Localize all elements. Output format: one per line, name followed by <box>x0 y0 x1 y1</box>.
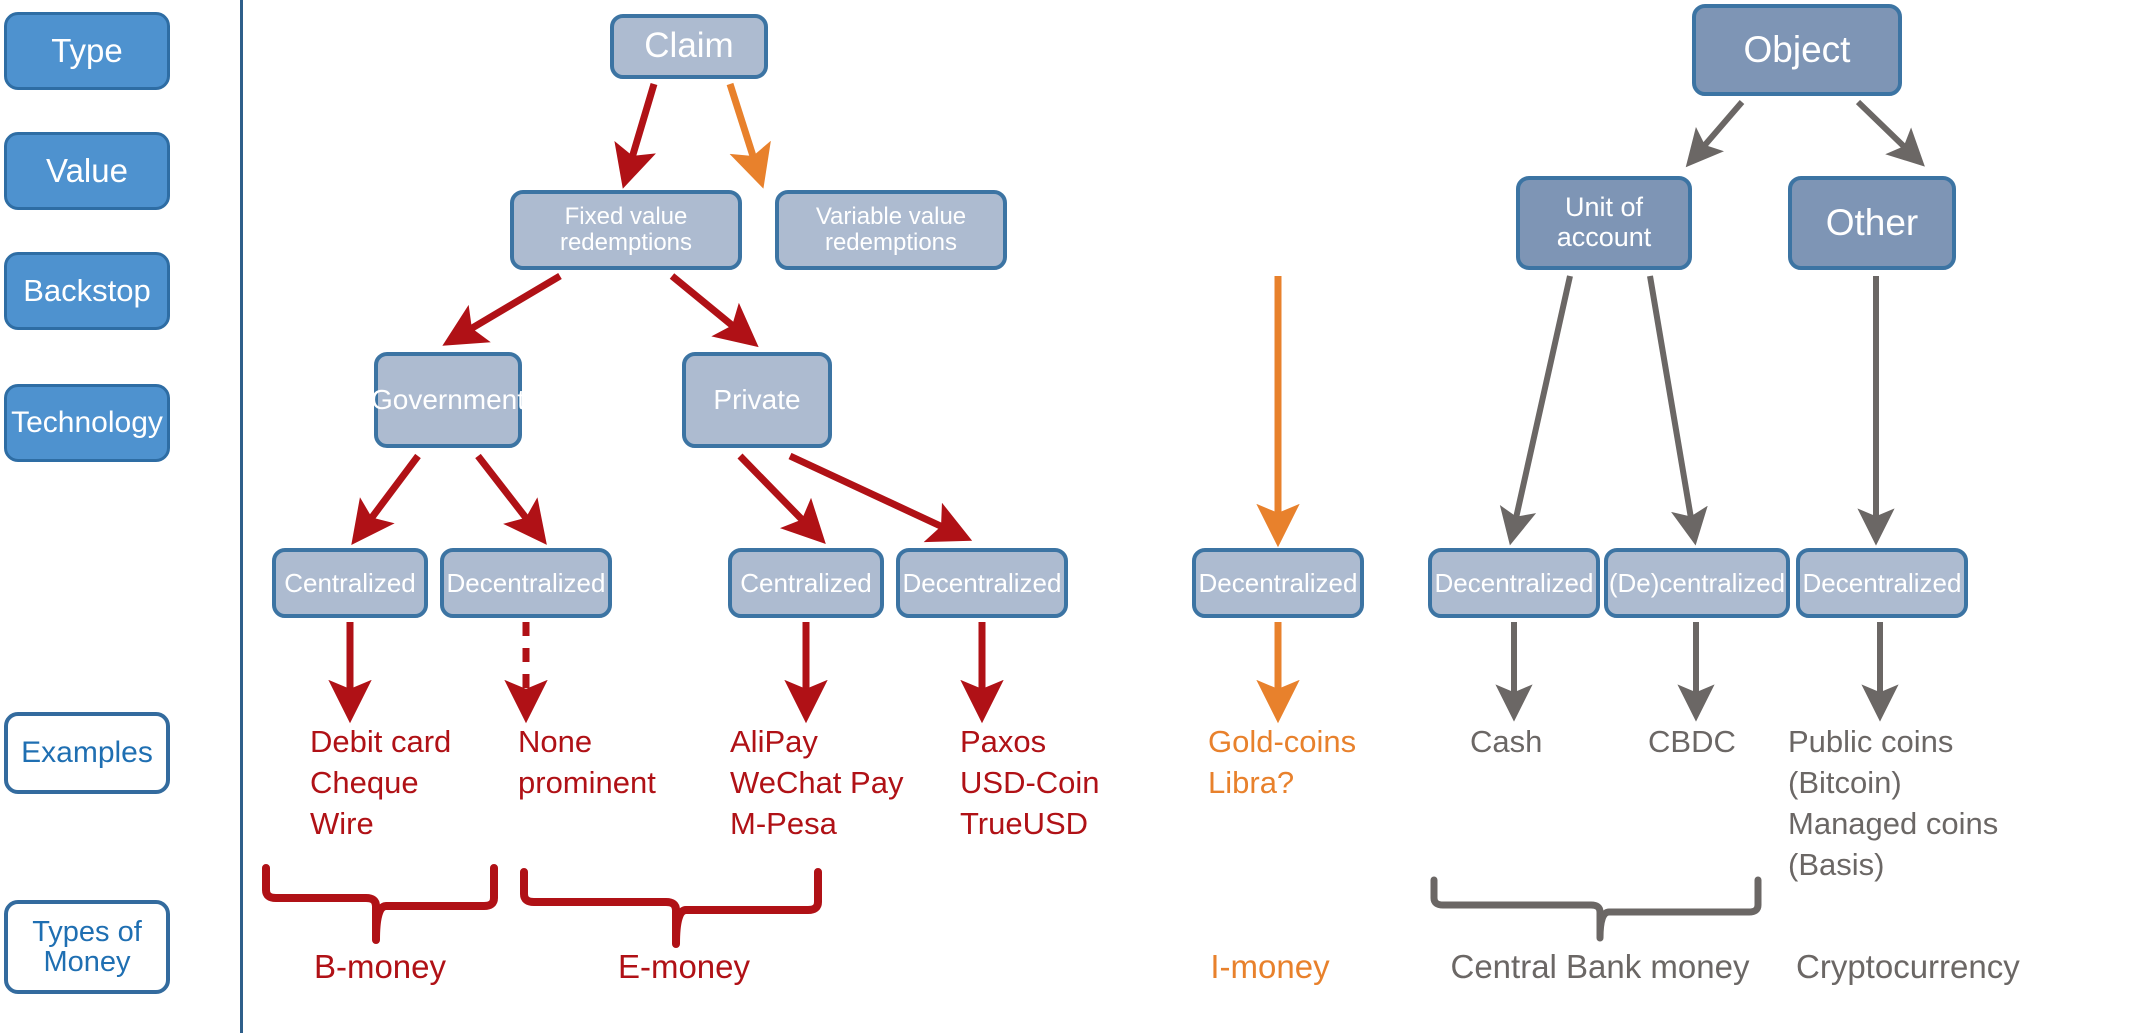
row-label-types-of-money: Types of Money <box>4 900 170 994</box>
row-label-backstop-text: Backstop <box>23 275 151 308</box>
node-tech-gov-decentralized[interactable]: Decentralized <box>440 548 612 618</box>
diagram-canvas: Type Value Backstop Technology Examples … <box>0 0 2145 1033</box>
edge-object-to-other <box>1858 102 1918 160</box>
edge-private-to-decentralized <box>790 456 962 536</box>
examples-cash: Cash <box>1470 722 1542 763</box>
node-tech-gov-centralized-label: Centralized <box>284 569 416 598</box>
node-claim[interactable]: Claim <box>610 14 768 79</box>
brace-b-money <box>266 868 494 940</box>
node-variable-value-redemptions-label: Variable value redemptions <box>779 204 1003 257</box>
node-government-label: Government <box>371 385 525 416</box>
node-claim-label: Claim <box>644 27 733 66</box>
node-tech-priv-centralized-label: Centralized <box>740 569 872 598</box>
examples-e-centralized: AliPay WeChat Pay M-Pesa <box>730 722 903 845</box>
examples-e-decentralized: Paxos USD-Coin TrueUSD <box>960 722 1100 845</box>
row-label-examples: Examples <box>4 712 170 794</box>
node-tech-gov-centralized[interactable]: Centralized <box>272 548 428 618</box>
node-fixed-value-redemptions[interactable]: Fixed value redemptions <box>510 190 742 270</box>
examples-i-money: Gold-coins Libra? <box>1208 722 1356 804</box>
brace-e-money <box>524 872 818 944</box>
edge-uoa-to-de-centralized <box>1650 276 1694 536</box>
row-label-backstop: Backstop <box>4 252 170 330</box>
node-government[interactable]: Government <box>374 352 522 448</box>
brace-central-bank-money <box>1434 880 1758 938</box>
node-object[interactable]: Object <box>1692 4 1902 96</box>
node-tech-uoa-decentralized-label: Decentralized <box>1435 569 1594 598</box>
node-tech-other-decentralized-label: Decentralized <box>1803 569 1962 598</box>
node-other-label: Other <box>1826 203 1919 244</box>
edge-government-to-centralized <box>358 456 418 536</box>
edge-object-to-unit-of-account <box>1692 102 1742 160</box>
examples-b-decentralized: None prominent <box>518 722 656 804</box>
node-tech-variable-decentralized-label: Decentralized <box>1199 569 1358 598</box>
edge-private-to-centralized <box>740 456 818 536</box>
row-label-value: Value <box>4 132 170 210</box>
node-variable-value-redemptions[interactable]: Variable value redemptions <box>775 190 1007 270</box>
node-tech-priv-decentralized-label: Decentralized <box>903 569 1062 598</box>
money-type-cryptocurrency: Cryptocurrency <box>1796 948 2116 986</box>
examples-cbdc: CBDC <box>1648 722 1736 763</box>
node-private[interactable]: Private <box>682 352 832 448</box>
edge-claim-to-fixed <box>626 84 654 178</box>
left-column-divider <box>240 0 243 1033</box>
money-type-b-money: B-money <box>280 948 480 986</box>
examples-cryptocurrency: Public coins (Bitcoin) Managed coins (Ba… <box>1788 722 1998 886</box>
node-tech-uoa-decentralized[interactable]: Decentralized <box>1428 548 1600 618</box>
node-private-label: Private <box>713 385 800 416</box>
node-unit-of-account[interactable]: Unit of account <box>1516 176 1692 270</box>
row-label-type: Type <box>4 12 170 90</box>
node-tech-priv-centralized[interactable]: Centralized <box>728 548 884 618</box>
node-tech-gov-decentralized-label: Decentralized <box>447 569 606 598</box>
node-unit-of-account-label: Unit of account <box>1557 193 1652 252</box>
node-tech-priv-decentralized[interactable]: Decentralized <box>896 548 1068 618</box>
node-object-label: Object <box>1744 30 1851 71</box>
node-tech-uoa-de-centralized-label: (De)centralized <box>1609 569 1785 598</box>
edge-fixed-to-private <box>672 276 750 340</box>
node-tech-other-decentralized[interactable]: Decentralized <box>1796 548 1968 618</box>
edge-uoa-to-decentralized <box>1512 276 1570 536</box>
row-label-technology: Technology <box>4 384 170 462</box>
edge-fixed-to-government <box>452 276 560 340</box>
node-fixed-value-redemptions-label: Fixed value redemptions <box>514 204 738 257</box>
money-type-i-money: I-money <box>1180 948 1360 986</box>
row-label-type-text: Type <box>51 34 123 69</box>
row-label-types-of-money-text: Types of Money <box>8 917 166 978</box>
money-type-e-money: E-money <box>524 948 844 986</box>
row-label-value-text: Value <box>46 154 128 189</box>
row-label-examples-text: Examples <box>21 737 153 769</box>
money-type-central-bank-money: Central Bank money <box>1420 948 1780 986</box>
edge-government-to-decentralized <box>478 456 540 536</box>
examples-b-centralized: Debit card Cheque Wire <box>310 722 451 845</box>
row-label-technology-text: Technology <box>11 407 163 439</box>
node-tech-variable-decentralized[interactable]: Decentralized <box>1192 548 1364 618</box>
node-tech-uoa-de-centralized[interactable]: (De)centralized <box>1604 548 1790 618</box>
node-other[interactable]: Other <box>1788 176 1956 270</box>
edge-claim-to-variable <box>730 84 760 178</box>
